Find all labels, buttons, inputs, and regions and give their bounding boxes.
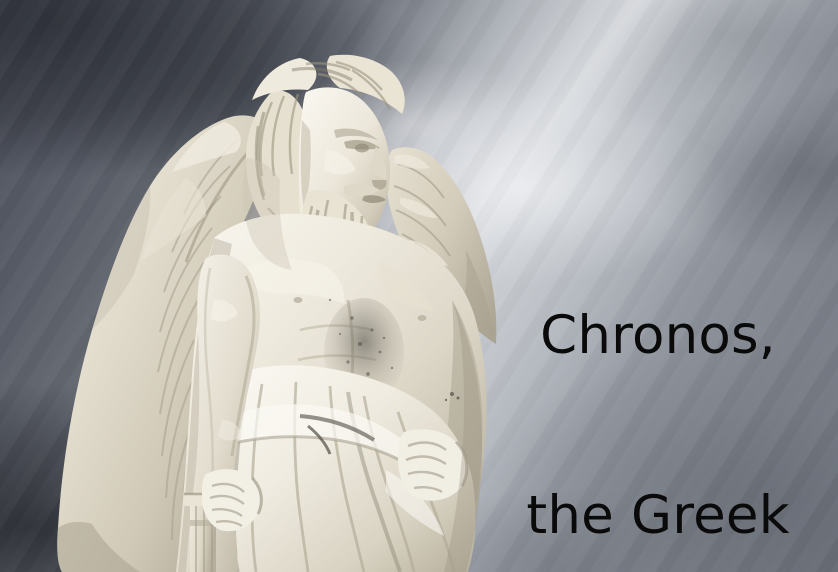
image-canvas: Chronos, the Greek god of time bbox=[0, 0, 838, 572]
caption-line-2: the Greek bbox=[482, 486, 834, 546]
caption-overlay: Chronos, the Greek god of time bbox=[482, 186, 834, 572]
caption-line-1: Chronos, bbox=[482, 306, 834, 366]
